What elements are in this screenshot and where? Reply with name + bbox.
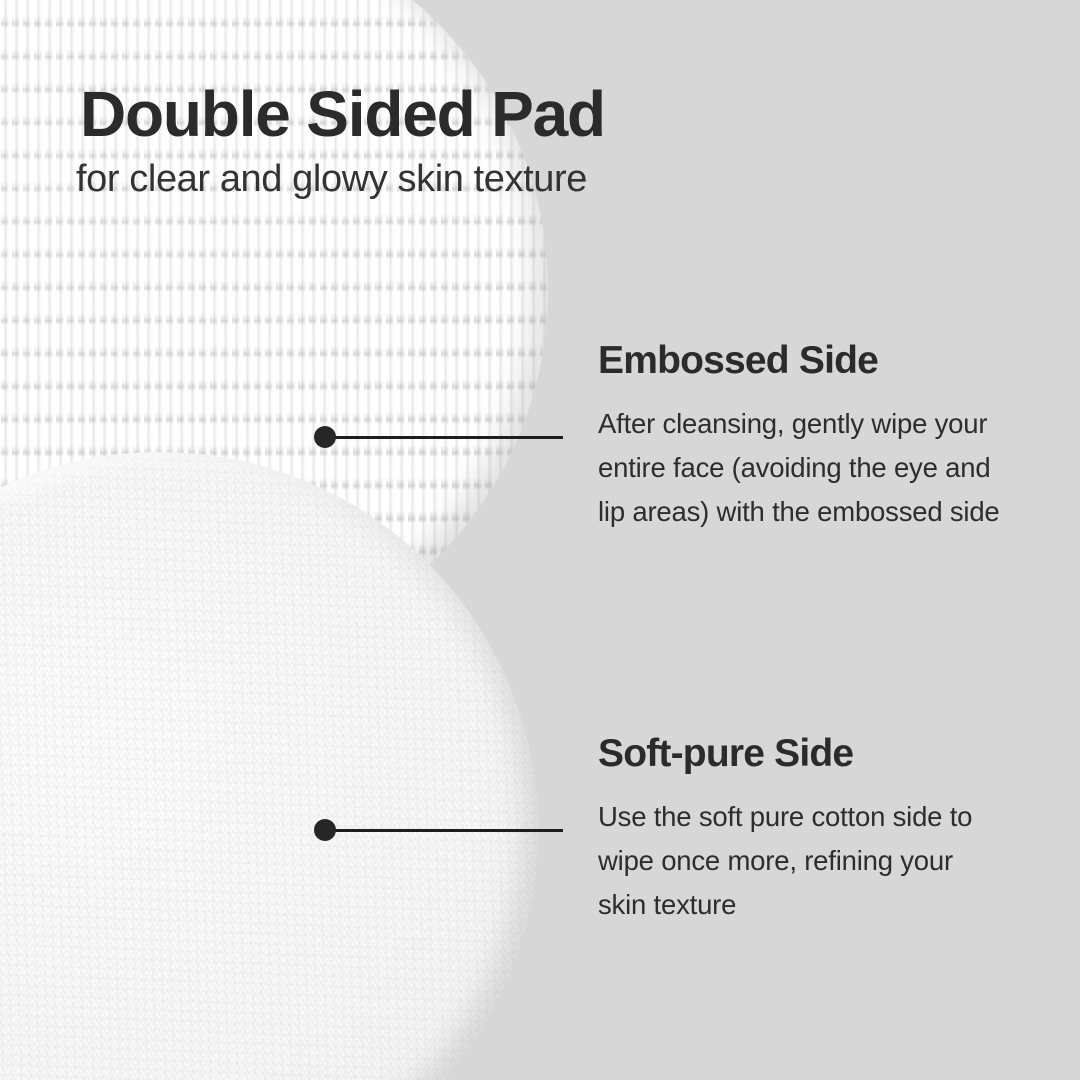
callout-embossed-side: Embossed Side After cleansing, gently wi…: [598, 341, 1028, 534]
header-block: Double Sided Pad for clear and glowy ski…: [80, 82, 605, 198]
product-infographic: Double Sided Pad for clear and glowy ski…: [0, 0, 1080, 1080]
page-subtitle: for clear and glowy skin texture: [76, 160, 605, 198]
callout-body-line: skin texture: [598, 883, 1028, 927]
leader-line-stroke: [329, 436, 563, 439]
leader-line-stroke: [329, 829, 563, 832]
leader-dot-icon: [314, 426, 336, 448]
callout-body-line: wipe once more, refining your: [598, 839, 1028, 883]
callout-heading-embossed: Embossed Side: [598, 341, 1028, 380]
callout-body-line: lip areas) with the embossed side: [598, 490, 1028, 534]
callout-body-embossed: After cleansing, gently wipe your entire…: [598, 402, 1028, 534]
callout-heading-soft-pure: Soft-pure Side: [598, 734, 1028, 773]
callout-body-line: entire face (avoiding the eye and: [598, 446, 1028, 490]
callout-body-soft-pure: Use the soft pure cotton side to wipe on…: [598, 795, 1028, 927]
soft-pure-cotton-pad-image: [0, 452, 538, 1080]
callout-body-line: Use the soft pure cotton side to: [598, 795, 1028, 839]
callout-body-line: After cleansing, gently wipe your: [598, 402, 1028, 446]
leader-dot-icon: [314, 819, 336, 841]
callout-soft-pure-side: Soft-pure Side Use the soft pure cotton …: [598, 734, 1028, 927]
page-title: Double Sided Pad: [80, 82, 605, 146]
